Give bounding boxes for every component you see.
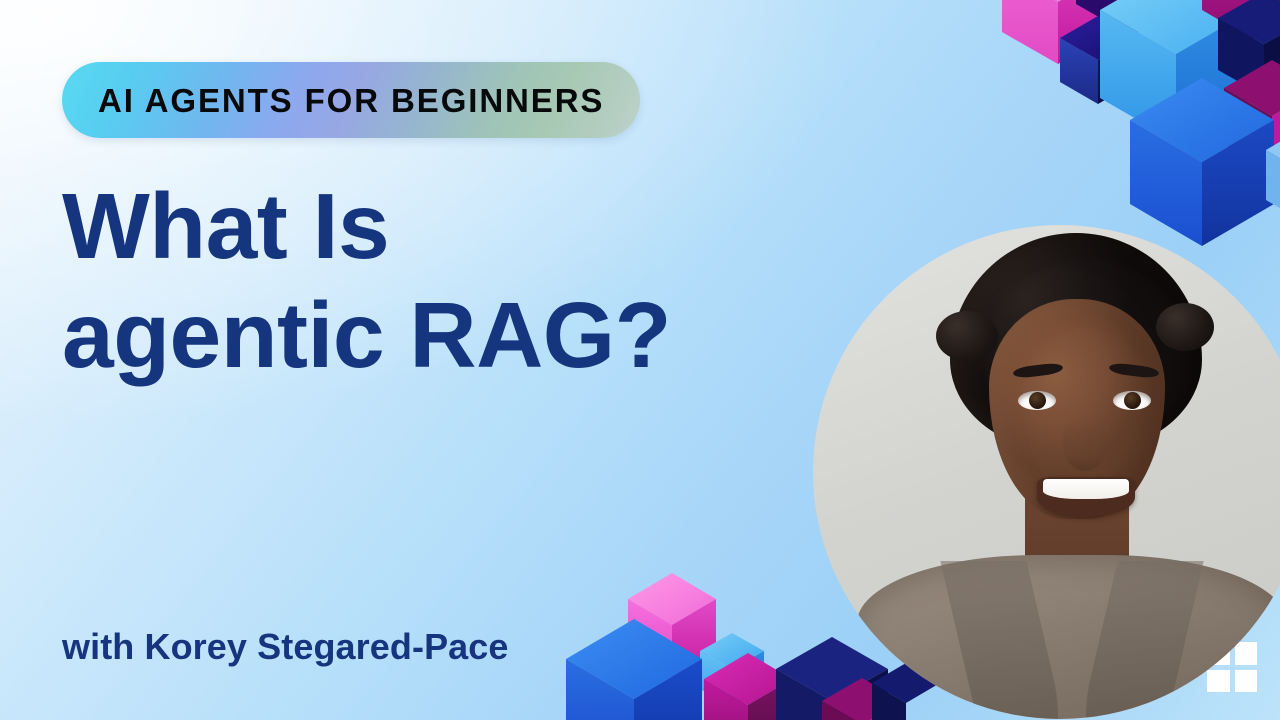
- presenter-credit: with Korey Stegared-Pace: [62, 626, 509, 668]
- decoration-cubes-top-right: [980, 0, 1280, 250]
- title-line-2: agentic RAG?: [62, 281, 762, 390]
- presenter-cardigan: [857, 555, 1280, 719]
- cube-pink-bottom: [628, 573, 716, 677]
- cube-sky-large: [1100, 0, 1252, 142]
- presenter-pupil-left: [1029, 392, 1046, 409]
- presenter-photo: [813, 225, 1280, 719]
- presenter-nose: [1063, 417, 1107, 471]
- title-line-1: What Is: [62, 172, 762, 281]
- cube-navy-small: [1060, 16, 1136, 104]
- presenter-mouth: [1037, 477, 1135, 517]
- cube-royal-bottom-left: [566, 619, 702, 720]
- cube-magenta-bottom: [704, 653, 792, 720]
- cube-magenta-top: [1202, 0, 1280, 39]
- cube-royal-lower: [1130, 78, 1274, 246]
- presenter-pupil-right: [1124, 392, 1141, 409]
- cube-pale-right: [1266, 124, 1280, 226]
- cube-pink: [1002, 0, 1114, 64]
- cube-sky-small-bottom: [700, 633, 764, 707]
- presenter-teeth: [1043, 479, 1129, 499]
- cube-navy-right: [1218, 0, 1280, 96]
- page-title: What Is agentic RAG?: [62, 172, 762, 390]
- series-badge: AI AGENTS FOR BEGINNERS: [62, 62, 640, 138]
- video-thumbnail-canvas: AI AGENTS FOR BEGINNERS What Is agentic …: [0, 0, 1280, 720]
- cube-magenta-right: [1224, 60, 1280, 172]
- cube-purple-deep: [1076, 0, 1188, 36]
- series-badge-label: AI AGENTS FOR BEGINNERS: [98, 84, 604, 117]
- decoration-cube-chip: [0, 668, 60, 720]
